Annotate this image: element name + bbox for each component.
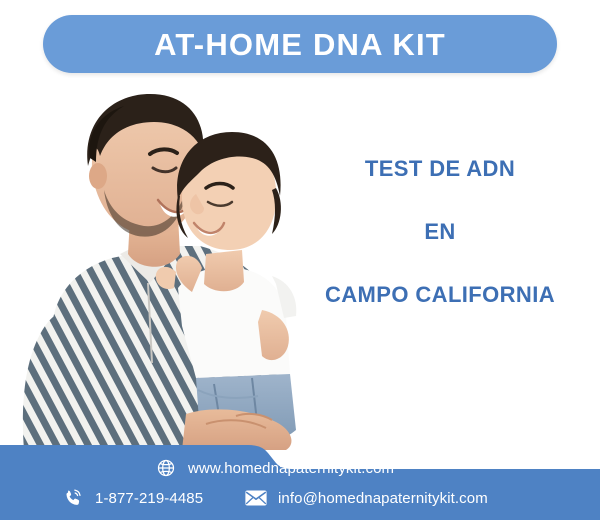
footer-phone[interactable]: 1-877-219-4485 [62,487,203,509]
page-title: AT-HOME DNA KIT [154,29,446,60]
father-and-child-photo [0,78,330,450]
headline-block: TEST DE ADN EN CAMPO CALIFORNIA [295,158,585,306]
headline-line-2: EN [295,221,585,243]
footer-email-text: info@homednapaternitykit.com [278,491,488,506]
headline-line-1: TEST DE ADN [295,158,585,180]
header-banner: AT-HOME DNA KIT [43,15,557,73]
footer-website-text: www.homednapaternitykit.com [188,461,394,476]
footer-phone-text: 1-877-219-4485 [95,491,203,506]
footer-website[interactable]: www.homednapaternitykit.com [155,457,394,479]
footer-bar: www.homednapaternitykit.com 1-877-219-44… [0,437,600,520]
footer-email[interactable]: info@homednapaternitykit.com [245,487,488,509]
globe-icon [155,457,177,479]
headline-line-3: CAMPO CALIFORNIA [295,284,585,306]
poster-root: AT-HOME DNA KIT [0,0,600,520]
footer-content: www.homednapaternitykit.com 1-877-219-44… [0,437,600,520]
envelope-icon [245,487,267,509]
phone-icon [62,487,84,509]
